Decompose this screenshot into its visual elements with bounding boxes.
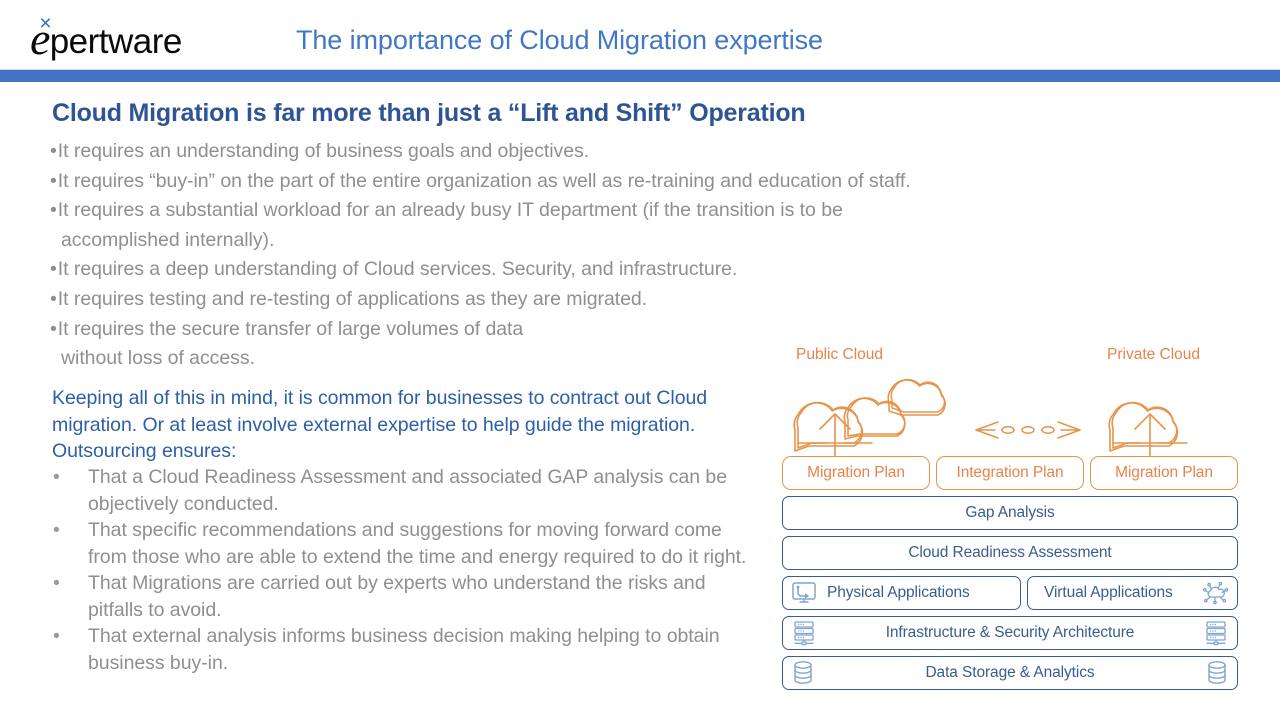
bullet-line: •It requires a deep understanding of Clo… [50,255,1240,285]
outsourcing-paragraph: Keeping all of this in mind, it is commo… [52,385,742,465]
bullet-line: •It requires testing and re-testing of a… [50,285,1240,315]
list-item: • That Migrations are carried out by exp… [50,570,750,623]
page-title: The importance of Cloud Migration expert… [296,25,823,56]
infrastructure-row: Infrastructure & Security Architecture [782,616,1238,650]
box-label: Integration Plan [957,464,1064,482]
box-label: Gap Analysis [965,504,1054,522]
data-storage-analytics-box[interactable]: Data Storage & Analytics [782,656,1238,690]
bullet-line: •It requires a substantial workload for … [50,196,1240,226]
box-label: Migration Plan [1115,464,1213,482]
transfer-arrow-icon [976,422,1080,438]
cloud-network-icon [1203,581,1229,605]
bullet-marker: • [50,318,57,340]
bullet-marker: • [50,199,57,221]
public-cloud-back-icon [888,380,945,415]
data-storage-row: Data Storage & Analytics [782,656,1238,690]
migration-plan-box-left[interactable]: Migration Plan [782,456,930,490]
bullet-marker: • [53,570,60,597]
bullet-text: It requires “buy-in” on the part of the … [58,170,911,192]
integration-plan-box[interactable]: Integration Plan [936,456,1084,490]
migration-stack: Migration Plan Integration Plan Migratio… [782,456,1238,696]
bullet-text: It requires a deep understanding of Clou… [58,258,738,280]
list-item: • That specific recommendations and sugg… [50,517,750,570]
public-cloud-middle-icon [844,398,905,439]
migration-plan-box-right[interactable]: Migration Plan [1090,456,1238,490]
list-item-text: That Migrations are carried out by exper… [88,572,706,621]
bullet-marker: • [50,170,57,192]
server-rack-icon [1203,620,1229,646]
monitor-app-icon [791,581,817,605]
bullet-marker: • [50,258,57,280]
section-heading: Cloud Migration is far more than just a … [52,99,806,128]
bullet-marker: • [53,623,60,650]
gap-analysis-row: Gap Analysis [782,496,1238,530]
bullet-line: •It requires “buy-in” on the part of the… [50,167,1240,197]
slide-header: e × pertware The importance of Cloud Mig… [0,0,1280,68]
database-icon [791,660,815,686]
bullet-marker: • [50,140,57,162]
bullet-line-continuation: accomplished internally). [50,226,1240,256]
box-label: Physical Applications [827,584,970,602]
box-label: Cloud Readiness Assessment [908,544,1111,562]
list-item-text: That a Cloud Readiness Assessment and as… [88,466,727,515]
bullet-marker: • [50,288,57,310]
applications-row: Physical Applications Virtual Applicatio… [782,576,1238,610]
cloud-readiness-assessment-box[interactable]: Cloud Readiness Assessment [782,536,1238,570]
gap-analysis-box[interactable]: Gap Analysis [782,496,1238,530]
infrastructure-security-box[interactable]: Infrastructure & Security Architecture [782,616,1238,650]
box-label: Virtual Applications [1044,584,1173,602]
box-label: Infrastructure & Security Architecture [886,624,1135,642]
logo-wordmark: pertware [50,22,182,62]
virtual-applications-box[interactable]: Virtual Applications [1027,576,1238,610]
plan-row: Migration Plan Integration Plan Migratio… [782,456,1238,490]
list-item-text: That specific recommendations and sugges… [88,519,746,568]
bullet-text: It requires the secure transfer of large… [58,318,523,340]
bullet-marker: • [53,464,60,491]
cloud-migration-diagram: Public Cloud Private Cloud [780,338,1250,710]
bullet-text: It requires a substantial workload for a… [58,199,843,221]
bullet-line: •It requires an understanding of busines… [50,137,1240,167]
expertware-logo: e × pertware [30,14,195,62]
outsourcing-benefits-list: • That a Cloud Readiness Assessment and … [50,464,750,676]
box-label: Data Storage & Analytics [925,664,1094,682]
list-item: • That external analysis informs busines… [50,623,750,676]
database-icon [1205,660,1229,686]
bullet-text: accomplished internally). [61,229,274,251]
list-item-text: That external analysis informs business … [88,625,720,674]
server-rack-icon [791,620,817,646]
list-item: • That a Cloud Readiness Assessment and … [50,464,750,517]
physical-applications-box[interactable]: Physical Applications [782,576,1021,610]
cloud-artwork [780,356,1250,461]
private-cloud-icon [1109,403,1187,460]
bullet-marker: • [53,517,60,544]
box-label: Migration Plan [807,464,905,482]
bullet-text: without loss of access. [61,347,255,369]
bullet-text: It requires an understanding of business… [58,140,589,162]
bullet-text: It requires testing and re-testing of ap… [58,288,647,310]
header-divider-bar [0,69,1280,82]
cloud-readiness-row: Cloud Readiness Assessment [782,536,1238,570]
